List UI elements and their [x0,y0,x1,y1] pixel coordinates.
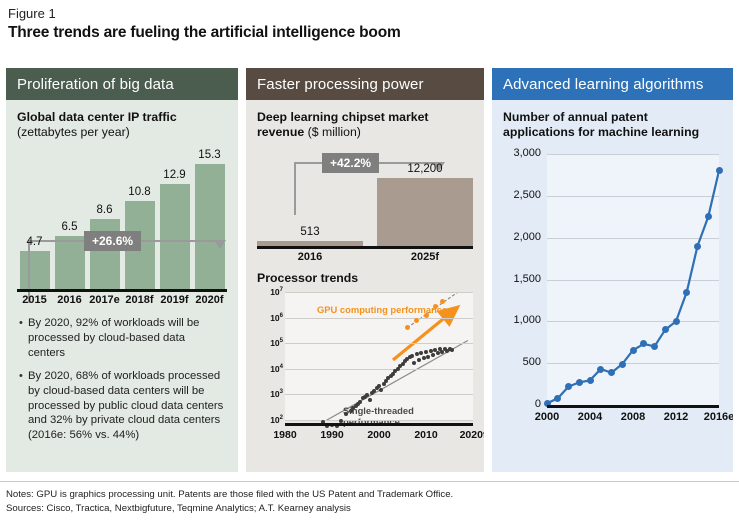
line-data-point-2015 [705,213,712,220]
scatter-y-label-10⁶: 106 [257,313,283,323]
line-x-label-2008: 2008 [611,411,655,423]
panel-header-big-data: Proliferation of big data [6,68,238,100]
x-label-2016: 2016 [50,294,90,306]
scatter-x-label-1990: 1990 [310,429,354,441]
scatter-point [412,361,416,365]
footer-divider [0,481,739,482]
footer-sources: Sources: Cisco, Tractica, Nextbigfuture,… [6,503,351,514]
x-axis-ip-traffic [17,289,227,292]
bar-value-2020f: 15.3 [193,149,227,161]
x-label-2017e: 2017e [85,294,125,306]
scatter-point [450,348,454,352]
line-data-point-2012 [673,318,680,325]
growth-badge-chipset-revenue: +42.2% [322,153,379,173]
scatter-x-label-2000: 2000 [357,429,401,441]
x-axis-chipset-revenue [257,246,473,249]
chart-title-ml-patents: Number of annual patent applications for… [503,110,722,140]
line-y-label-2500: 2,500 [503,189,541,201]
bullet-text: By 2020, 68% of workloads processed by c… [28,369,225,444]
panel-big-data: Proliferation of big data Global data ce… [6,68,238,472]
panel-header-processing-power: Faster processing power [246,68,484,100]
scatter-point [419,351,423,355]
scatter-point [424,350,428,354]
growth-badge-ip-traffic: +26.6% [84,231,141,251]
scatter-plot-area: GPU computing performance Single-threade… [285,292,473,420]
x-label-2015: 2015 [15,294,55,306]
x-label-2025f: 2025f [377,251,473,263]
line-data-point-2005 [597,366,604,373]
x-label-2018f: 2018f [120,294,160,306]
line-data-point-2008 [630,347,637,354]
scatter-x-label-1980: 1980 [263,429,307,441]
bar-2015 [20,251,50,289]
infographic-page: Figure 1 Three trends are fueling the ar… [0,0,739,523]
line-data-point-2001 [554,395,561,402]
scatter-point [426,355,430,359]
bar-value-2015: 4.7 [18,236,52,248]
line-x-label-2016e: 2016e [697,411,733,423]
bar-value-2017e: 8.6 [88,204,122,216]
scatter-gridline [285,420,473,421]
scatter-y-label-10³: 103 [257,389,283,399]
line-y-label-0: 0 [503,398,541,410]
scatter-x-label-2010: 2010 [404,429,448,441]
line-y-label-3000: 3,000 [503,147,541,159]
line-data-point-2011 [662,326,669,333]
bullet-dot-icon: • [19,316,28,361]
list-item: •By 2020, 68% of workloads processed by … [19,369,225,444]
bar-value-2025f: 12,200 [377,163,473,175]
line-data-point-2013 [683,289,690,296]
bar-value-2019f: 12.9 [158,169,192,181]
scatter-point [424,313,429,318]
panel-learning-algorithms: Advanced learning algorithms Number of a… [492,68,733,472]
bullet-text: By 2020, 92% of workloads will be proces… [28,316,225,361]
line-y-label-1000: 1,000 [503,314,541,326]
line-x-label-2000: 2000 [525,411,569,423]
scatter-point [417,358,421,362]
scatter-point [440,350,444,354]
scatter-point [436,351,440,355]
scatter-point [358,400,362,404]
scatter-point [379,388,383,392]
bar-chart-ip-traffic [17,164,227,289]
line-data-point-2004 [587,377,594,384]
scatter-point [415,352,419,356]
line-data-point-2010 [651,343,658,350]
bar-2019f [160,184,190,289]
scatter-y-label-10⁷: 107 [257,287,283,297]
figure-label: Figure 1 [8,6,56,21]
x-label-2019f: 2019f [155,294,195,306]
scatter-y-label-10²: 102 [257,415,283,425]
scatter-point [414,318,419,323]
growth-callout-vertical-line [294,163,296,215]
panel-header-label: Faster processing power [257,76,424,93]
line-data-point-2007 [619,361,626,368]
chart-title-ip-traffic: Global data center IP traffic (zettabyte… [17,110,227,140]
line-x-label-2012: 2012 [654,411,698,423]
footer-notes: Notes: GPU is graphics processing unit. … [6,489,453,500]
scatter-point [410,354,414,358]
scatter-chart-processor-trends: GPU computing performance Single-threade… [257,292,473,440]
scatter-x-label-2020f: 2020f [451,429,484,441]
bar-value-2018f: 10.8 [123,186,157,198]
scatter-point [431,353,435,357]
chart-title-text: Global data center IP traffic [17,110,177,124]
scatter-gridline [285,369,473,370]
scatter-point [365,393,369,397]
bar-value-2016: 513 [257,226,363,238]
scatter-gridline [285,318,473,319]
chart-subtitle-text: (zettabytes per year) [17,125,130,139]
list-item: •By 2020, 92% of workloads will be proce… [19,316,225,361]
line-data-point-2003 [576,379,583,386]
chart-subtitle-text: ($ million) [308,125,361,139]
scatter-point [372,389,376,393]
bar-value-2016: 6.5 [53,221,87,233]
panel-header-learning-algorithms: Advanced learning algorithms [492,68,733,100]
line-y-label-1500: 1,500 [503,273,541,285]
page-title: Three trends are fueling the artificial … [8,24,401,42]
line-x-label-2004: 2004 [568,411,612,423]
line-data-point-2014 [694,243,701,250]
panel-header-label: Proliferation of big data [17,76,174,93]
line-plot-area [547,154,719,405]
line-chart-ml-patents: 05001,0001,5002,0002,5003,000 2000200420… [503,154,721,442]
scatter-point [422,356,426,360]
chart-title-processor-trends: Processor trends [257,271,358,285]
bar-2017e [90,219,120,289]
scatter-x-axis [285,423,473,426]
chart-title-chipset-revenue: Deep learning chipset market revenue ($ … [257,110,473,140]
scatter-point [405,325,410,330]
scatter-gridline [285,394,473,395]
bullet-dot-icon: • [19,369,28,444]
scatter-point [368,398,372,402]
growth-callout-arrow-icon [214,240,226,249]
panel-header-label: Advanced learning algorithms [503,76,703,93]
x-label-2020f: 2020f [190,294,230,306]
bar-2020f [195,164,225,289]
line-y-label-2000: 2,000 [503,231,541,243]
scatter-gridline [285,292,473,293]
line-data-point-2016e [716,167,723,174]
scatter-y-label-10⁵: 105 [257,338,283,348]
bullet-list-big-data: •By 2020, 92% of workloads will be proce… [19,316,225,451]
scatter-gridline [285,343,473,344]
scatter-y-label-10⁴: 104 [257,364,283,374]
panel-processing-power: Faster processing power Deep learning ch… [246,68,484,472]
line-y-label-500: 500 [503,356,541,368]
bar-2025f [377,178,473,246]
x-label-2016: 2016 [257,251,363,263]
line-x-axis [547,405,719,408]
line-series-path [547,154,719,405]
bar-2016 [55,236,85,289]
